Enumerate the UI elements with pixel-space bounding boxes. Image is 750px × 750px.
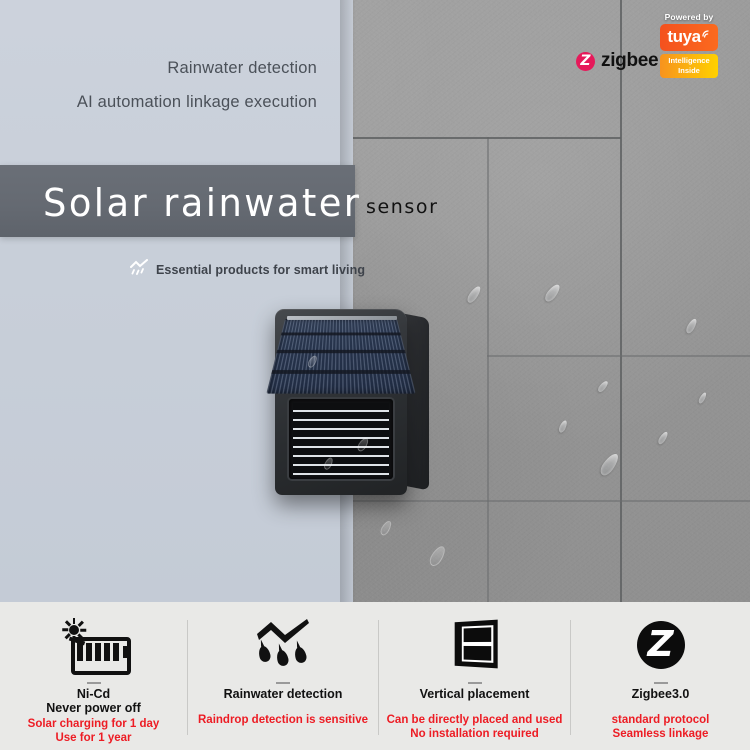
divider-dash: [654, 682, 668, 684]
feature-title-line-1: Zigbee3.0: [571, 687, 750, 701]
headline-line-2: AI automation linkage execution: [0, 94, 317, 111]
feature-item-battery: Ni-Cd Never power off Solar charging for…: [0, 602, 187, 750]
tagline-text: Essential products for smart living: [156, 263, 365, 277]
tuya-sub-line-2: Inside: [660, 66, 718, 76]
divider-dash: [87, 682, 101, 684]
feature-item-zigbee: Z Zigbee3.0 standard protocol Seamless l…: [571, 602, 750, 750]
feature-title-line-1: Vertical placement: [379, 687, 570, 701]
tuya-wifi-arc-icon: [702, 30, 711, 39]
tagline: Essential products for smart living: [130, 259, 365, 281]
sensor-word: sensor: [366, 196, 439, 218]
zigbee-z-glyph: Z: [576, 52, 595, 71]
solar-panel: [266, 319, 415, 394]
feature-title-line-2: Never power off: [0, 701, 187, 715]
zigzag-icon: [255, 618, 311, 644]
raindrop-icon: [293, 646, 308, 664]
rain-zigzag-icon: [130, 259, 149, 281]
title-band: Solar rainwater: [0, 165, 355, 237]
grout-line-horizontal: [487, 355, 750, 357]
band-title: Solar rainwater: [43, 181, 361, 225]
zigbee-circle-icon: Z: [571, 614, 750, 676]
tuya-intelligence-badge: Intelligence Inside: [660, 54, 718, 78]
grout-line-vertical: [620, 0, 622, 602]
product-poster: Rainwater detection AI automation linkag…: [0, 0, 750, 750]
rain-sensor-grille: [289, 399, 393, 479]
feature-item-vertical: Vertical placement Can be directly place…: [379, 602, 570, 750]
tuya-powered-by-text: Powered by: [660, 12, 718, 22]
zigbee-brand-logo: Z zigbee: [576, 50, 658, 72]
headline-block: Rainwater detection AI automation linkag…: [0, 60, 317, 127]
divider-dash: [468, 682, 482, 684]
raindrop-icon: [257, 645, 272, 663]
feature-red-line-2: Use for 1 year: [0, 732, 187, 746]
feature-red-line-1: standard protocol: [571, 714, 750, 728]
headline-line-1: Rainwater detection: [0, 60, 317, 77]
feature-red-line-1: Raindrop detection is sensitive: [188, 714, 378, 728]
tuya-brand-logo: Powered by tuya Intelligence Inside: [660, 12, 718, 78]
grout-line-horizontal: [353, 500, 750, 502]
solar-panel-top-edge: [287, 316, 397, 320]
raindrop-icon: [275, 649, 290, 667]
tuya-name-text: tuya: [667, 27, 700, 47]
zigbee-wordmark: zigbee: [601, 50, 658, 72]
vertical-placement-icon: [379, 614, 570, 676]
feature-red-line-2: No installation required: [379, 728, 570, 742]
tuya-wordmark: tuya: [660, 24, 718, 51]
grout-line-vertical: [487, 137, 489, 602]
feature-red-line-1: Can be directly placed and used: [379, 714, 570, 728]
solar-rainwater-sensor-device: [269, 307, 449, 497]
divider-dash: [276, 682, 290, 684]
rainwater-detection-icon: [188, 614, 378, 676]
feature-title-line-1: Ni-Cd: [0, 687, 187, 701]
feature-red-line-2: Seamless linkage: [571, 728, 750, 742]
feature-bar: Ni-Cd Never power off Solar charging for…: [0, 602, 750, 750]
tuya-sub-line-1: Intelligence: [660, 56, 718, 66]
zigbee-mark-icon: Z: [576, 52, 595, 71]
feature-red-line-1: Solar charging for 1 day: [0, 718, 187, 732]
feature-title-line-1: Rainwater detection: [188, 687, 378, 701]
feature-item-rainwater: Rainwater detection Raindrop detection i…: [188, 602, 378, 750]
grout-line-horizontal: [353, 137, 621, 139]
solar-battery-icon: [0, 614, 187, 676]
panel-shadow: [340, 0, 356, 602]
